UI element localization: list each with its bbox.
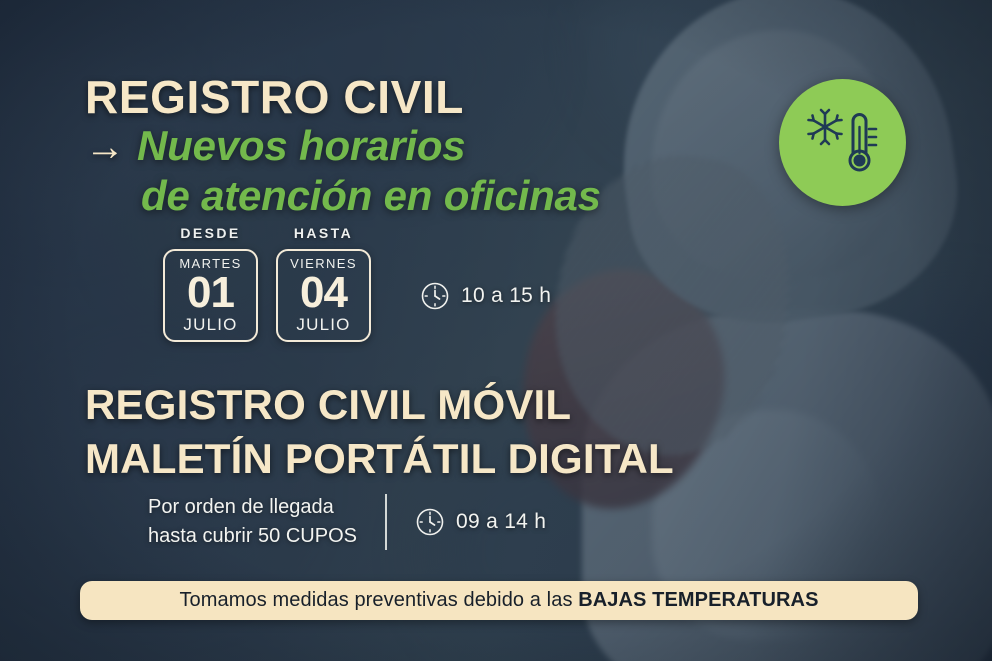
mobile-info-row: Por orden de llegada hasta cubrir 50 CUP…	[148, 493, 546, 551]
section-title-mobile-line-1: REGISTRO CIVIL MÓVIL	[85, 378, 674, 432]
alert-banner-lead: Tomamos medidas preventivas debido a las	[179, 589, 578, 611]
date-day-to: 04	[300, 271, 347, 315]
mobile-note-line-1: Por orden de llegada	[148, 493, 357, 522]
page-title: REGISTRO CIVIL	[85, 70, 464, 124]
date-caption-from: DESDE	[180, 225, 240, 241]
vertical-divider	[385, 494, 387, 550]
poster-content: REGISTRO CIVIL → Nuevos horarios de aten…	[0, 0, 992, 661]
alert-banner-text: Tomamos medidas preventivas debido a las…	[179, 589, 818, 612]
date-caption-to: HASTA	[294, 225, 353, 241]
date-column-from: DESDE MARTES 01 JULIO	[163, 225, 258, 342]
subtitle-text-1: Nuevos horarios	[137, 122, 465, 170]
clock-icon	[415, 507, 445, 537]
arrow-right-icon: →	[85, 127, 125, 167]
mobile-note-line-2: hasta cubrir 50 CUPOS	[148, 522, 357, 551]
date-month-from: JULIO	[183, 316, 237, 333]
subtitle-block: → Nuevos horarios de atención en oficina…	[85, 122, 725, 220]
mobile-note: Por orden de llegada hasta cubrir 50 CUP…	[148, 493, 357, 551]
cold-weather-badge	[779, 79, 906, 206]
poster-root: REGISTRO CIVIL → Nuevos horarios de aten…	[0, 0, 992, 661]
alert-banner-emphasis: BAJAS TEMPERATURAS	[578, 589, 818, 611]
mobile-hours-row: 09 a 14 h	[415, 507, 546, 537]
snowflake-thermometer-icon	[797, 97, 889, 189]
date-day-from: 01	[187, 271, 234, 315]
office-hours-text: 10 a 15 h	[461, 284, 551, 308]
date-box-to: VIERNES 04 JULIO	[276, 249, 371, 342]
alert-banner: Tomamos medidas preventivas debido a las…	[80, 581, 918, 620]
office-hours-row: 10 a 15 h	[420, 281, 551, 311]
clock-icon	[420, 281, 450, 311]
mobile-hours-text: 09 a 14 h	[456, 510, 546, 534]
date-box-from: MARTES 01 JULIO	[163, 249, 258, 342]
subtitle-line-1: → Nuevos horarios	[85, 122, 725, 170]
section-title-mobile: REGISTRO CIVIL MÓVIL MALETÍN PORTÁTIL DI…	[85, 378, 674, 486]
date-column-to: HASTA VIERNES 04 JULIO	[276, 225, 371, 342]
section-title-mobile-line-2: MALETÍN PORTÁTIL DIGITAL	[85, 432, 674, 486]
date-month-to: JULIO	[296, 316, 350, 333]
date-range: DESDE MARTES 01 JULIO HASTA VIERNES 04 J…	[163, 225, 389, 342]
subtitle-text-2: de atención en oficinas	[141, 172, 725, 220]
